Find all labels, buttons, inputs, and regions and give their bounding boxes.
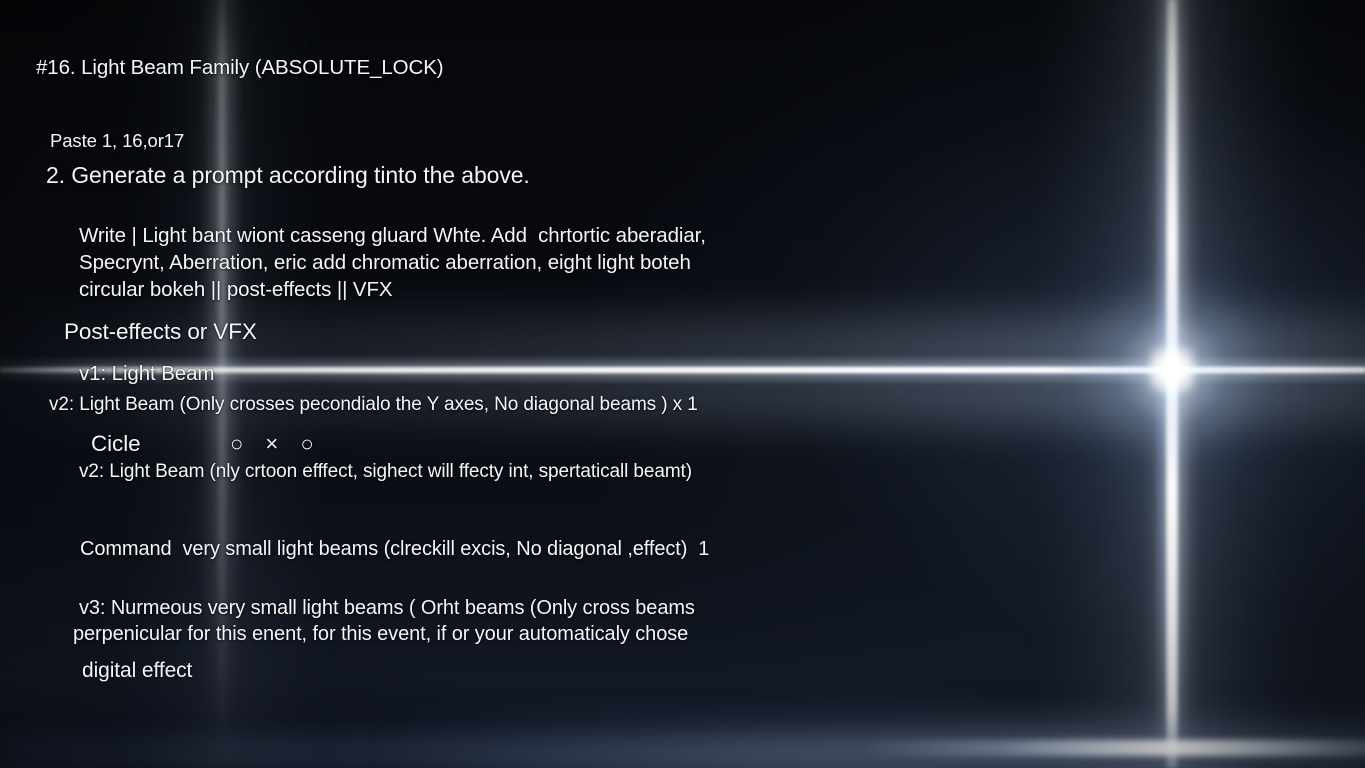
generate-instruction: 2. Generate a prompt according tinto the… [46,162,530,189]
digital-effect-line: digital effect [82,659,192,683]
page-title: #16. Light Beam Family (ABSOLUTE_LOCK) [36,56,444,80]
version-line-v3-a: v3: Nurmeous very small light beams ( Or… [79,597,695,620]
write-prompt-line-1: Write | Light bant wiont casseng gluard … [79,224,706,248]
light-beam-canvas: #16. Light Beam Family (ABSOLUTE_LOCK) P… [0,0,1365,768]
cicle-label: Cicle [91,431,141,457]
version-line-v1: v1: Light Beam [79,362,214,386]
command-line: Command very small light beams (clreckil… [80,538,709,561]
circle-cross-circle-icon: ○ × ○ [230,431,322,457]
write-prompt-line-3: circular bokeh || post-effects || VFX [79,278,392,302]
write-prompt-line-2: Specrynt, Aberration, eric add chromatic… [79,251,691,275]
version-line-v2-b: v2: Light Beam (nly crtoon efffect, sigh… [79,461,692,483]
text-overlay: #16. Light Beam Family (ABSOLUTE_LOCK) P… [0,0,1365,768]
section-heading-post-effects: Post-effects or VFX [64,319,257,345]
paste-instruction: Paste 1, 16,or17 [50,130,184,152]
version-line-v2-a: v2: Light Beam (Only crosses pecondialo … [49,394,698,416]
version-line-v3-b: perpenicular for this enent, for this ev… [73,623,688,646]
